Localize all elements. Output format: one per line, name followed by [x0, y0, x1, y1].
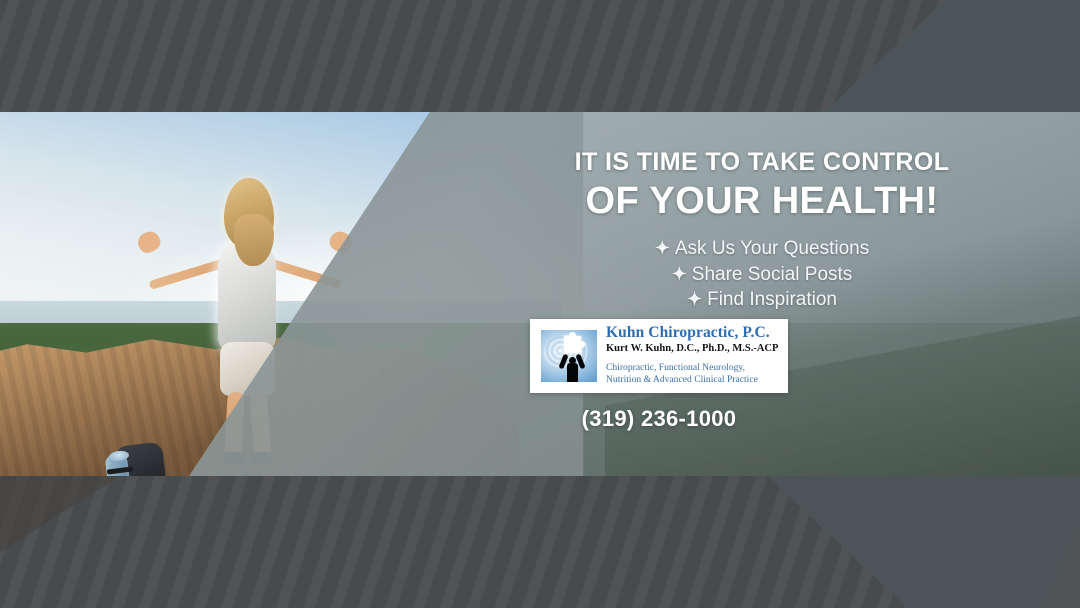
headline-line-2: OF YOUR HEALTH!: [430, 182, 1080, 220]
silhouette-body: [567, 363, 578, 382]
practice-tagline-line-2: Nutrition & Advanced Clinical Practice: [606, 374, 780, 387]
practice-logo-card[interactable]: Kuhn Chiropractic, P.C. Kurt W. Kuhn, D.…: [530, 319, 788, 393]
banner-content: IT IS TIME TO TAKE CONTROL OF YOUR HEALT…: [430, 112, 1080, 476]
practice-tagline-line-1: Chiropractic, Functional Neurology,: [606, 362, 780, 375]
benefit-label: Find Inspiration: [707, 289, 837, 310]
logo-text-block: Kuhn Chiropractic, P.C. Kurt W. Kuhn, D.…: [606, 325, 780, 387]
photo-backpack: [108, 442, 170, 476]
benefit-label: Ask Us Your Questions: [675, 238, 869, 259]
puzzle-piece-icon: [564, 336, 581, 353]
page-root: IT IS TIME TO TAKE CONTROL OF YOUR HEALT…: [0, 0, 1080, 608]
benefit-list-item: ✦Find Inspiration: [444, 287, 1080, 313]
hero-banner: IT IS TIME TO TAKE CONTROL OF YOUR HEALT…: [0, 112, 1080, 476]
phone-number[interactable]: (319) 236-1000: [530, 406, 788, 432]
benefit-list-item: ✦Share Social Posts: [444, 262, 1080, 288]
benefit-label: Share Social Posts: [692, 264, 853, 285]
doctor-name: Kurt W. Kuhn, D.C., Ph.D., M.S.-ACP: [606, 342, 780, 355]
benefit-list: ✦Ask Us Your Questions ✦Share Social Pos…: [430, 236, 1080, 313]
plus-bullet-icon: ✦: [672, 264, 687, 284]
benefit-list-item: ✦Ask Us Your Questions: [444, 236, 1080, 262]
practice-name: Kuhn Chiropractic, P.C.: [606, 325, 780, 341]
plus-bullet-icon: ✦: [655, 238, 670, 258]
plus-bullet-icon: ✦: [687, 289, 702, 309]
person-silhouette-icon: [560, 352, 584, 382]
brain-puzzle-emblem-icon: [541, 330, 597, 382]
headline-line-1: IT IS TIME TO TAKE CONTROL: [430, 150, 1080, 175]
